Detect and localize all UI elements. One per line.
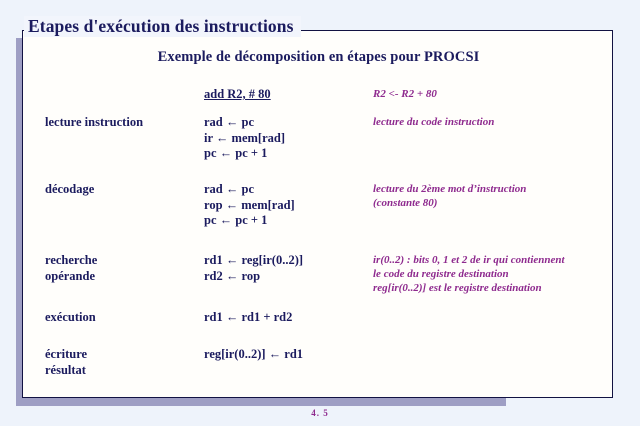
slide-content-frame: Exemple de décomposition en étapes pour … xyxy=(22,30,613,398)
instruction-code-column: add R2, # 80 xyxy=(204,87,369,102)
stage-label-line: décodage xyxy=(45,182,195,198)
notes-lecture-instruction: lecture du code instruction xyxy=(373,115,613,129)
operation-line: rop ← mem[rad] xyxy=(204,198,369,214)
operation-line: rd1 ← rd1 + rd2 xyxy=(204,310,369,326)
slide-canvas: Exemple de décomposition en étapes pour … xyxy=(0,0,640,426)
stage-label-recherche-operande: recherche opérande xyxy=(45,253,195,284)
operation-line: pc ← pc + 1 xyxy=(204,213,369,229)
slide-title: Etapes d'exécution des instructions xyxy=(24,16,301,37)
stage-label-line: écriture xyxy=(45,347,195,363)
stage-label-lecture-instruction: lecture instruction xyxy=(45,115,195,131)
instruction-note: R2 <- R2 + 80 xyxy=(373,87,613,101)
operations-lecture-instruction: rad ← pc ir ← mem[rad] pc ← pc + 1 xyxy=(204,115,369,162)
notes-decodage: lecture du 2ème mot d’instruction (const… xyxy=(373,182,613,210)
stage-label-line: résultat xyxy=(45,363,195,379)
slide-heading: Exemple de décomposition en étapes pour … xyxy=(23,49,614,66)
operation-line: ir ← mem[rad] xyxy=(204,131,369,147)
note-line: le code du registre destination xyxy=(373,267,613,281)
note-line: lecture du 2ème mot d’instruction xyxy=(373,182,613,196)
note-line: lecture du code instruction xyxy=(373,115,613,129)
operation-line: rd1 ← reg[ir(0..2)] xyxy=(204,253,369,269)
operations-recherche-operande: rd1 ← reg[ir(0..2)] rd2 ← rop xyxy=(204,253,369,284)
stage-label-line: recherche xyxy=(45,253,195,269)
operation-line: reg[ir(0..2)] ← rd1 xyxy=(204,347,369,363)
stage-label-line: lecture instruction xyxy=(45,115,195,131)
operations-decodage: rad ← pc rop ← mem[rad] pc ← pc + 1 xyxy=(204,182,369,229)
stage-label-decodage: décodage xyxy=(45,182,195,198)
stage-label-ecriture-resultat: écriture résultat xyxy=(45,347,195,378)
operations-execution: rd1 ← rd1 + rd2 xyxy=(204,310,369,326)
instruction-note-column: R2 <- R2 + 80 xyxy=(373,87,613,101)
operation-line: rad ← pc xyxy=(204,182,369,198)
operation-line: rad ← pc xyxy=(204,115,369,131)
slide-shadow-bottom xyxy=(16,398,506,406)
notes-recherche-operande: ir(0..2) : bits 0, 1 et 2 de ir qui cont… xyxy=(373,253,613,295)
stage-label-line: opérande xyxy=(45,269,195,285)
stage-label-execution: exécution xyxy=(45,310,195,326)
note-line: reg[ir(0..2)] est le registre destinatio… xyxy=(373,281,613,295)
page-number: 4. 5 xyxy=(0,408,640,418)
instruction-code: add R2, # 80 xyxy=(204,87,369,102)
stage-label-line: exécution xyxy=(45,310,195,326)
operation-line: pc ← pc + 1 xyxy=(204,146,369,162)
note-line: ir(0..2) : bits 0, 1 et 2 de ir qui cont… xyxy=(373,253,613,267)
note-line: (constante 80) xyxy=(373,196,613,210)
operation-line: rd2 ← rop xyxy=(204,269,369,285)
operations-ecriture-resultat: reg[ir(0..2)] ← rd1 xyxy=(204,347,369,363)
